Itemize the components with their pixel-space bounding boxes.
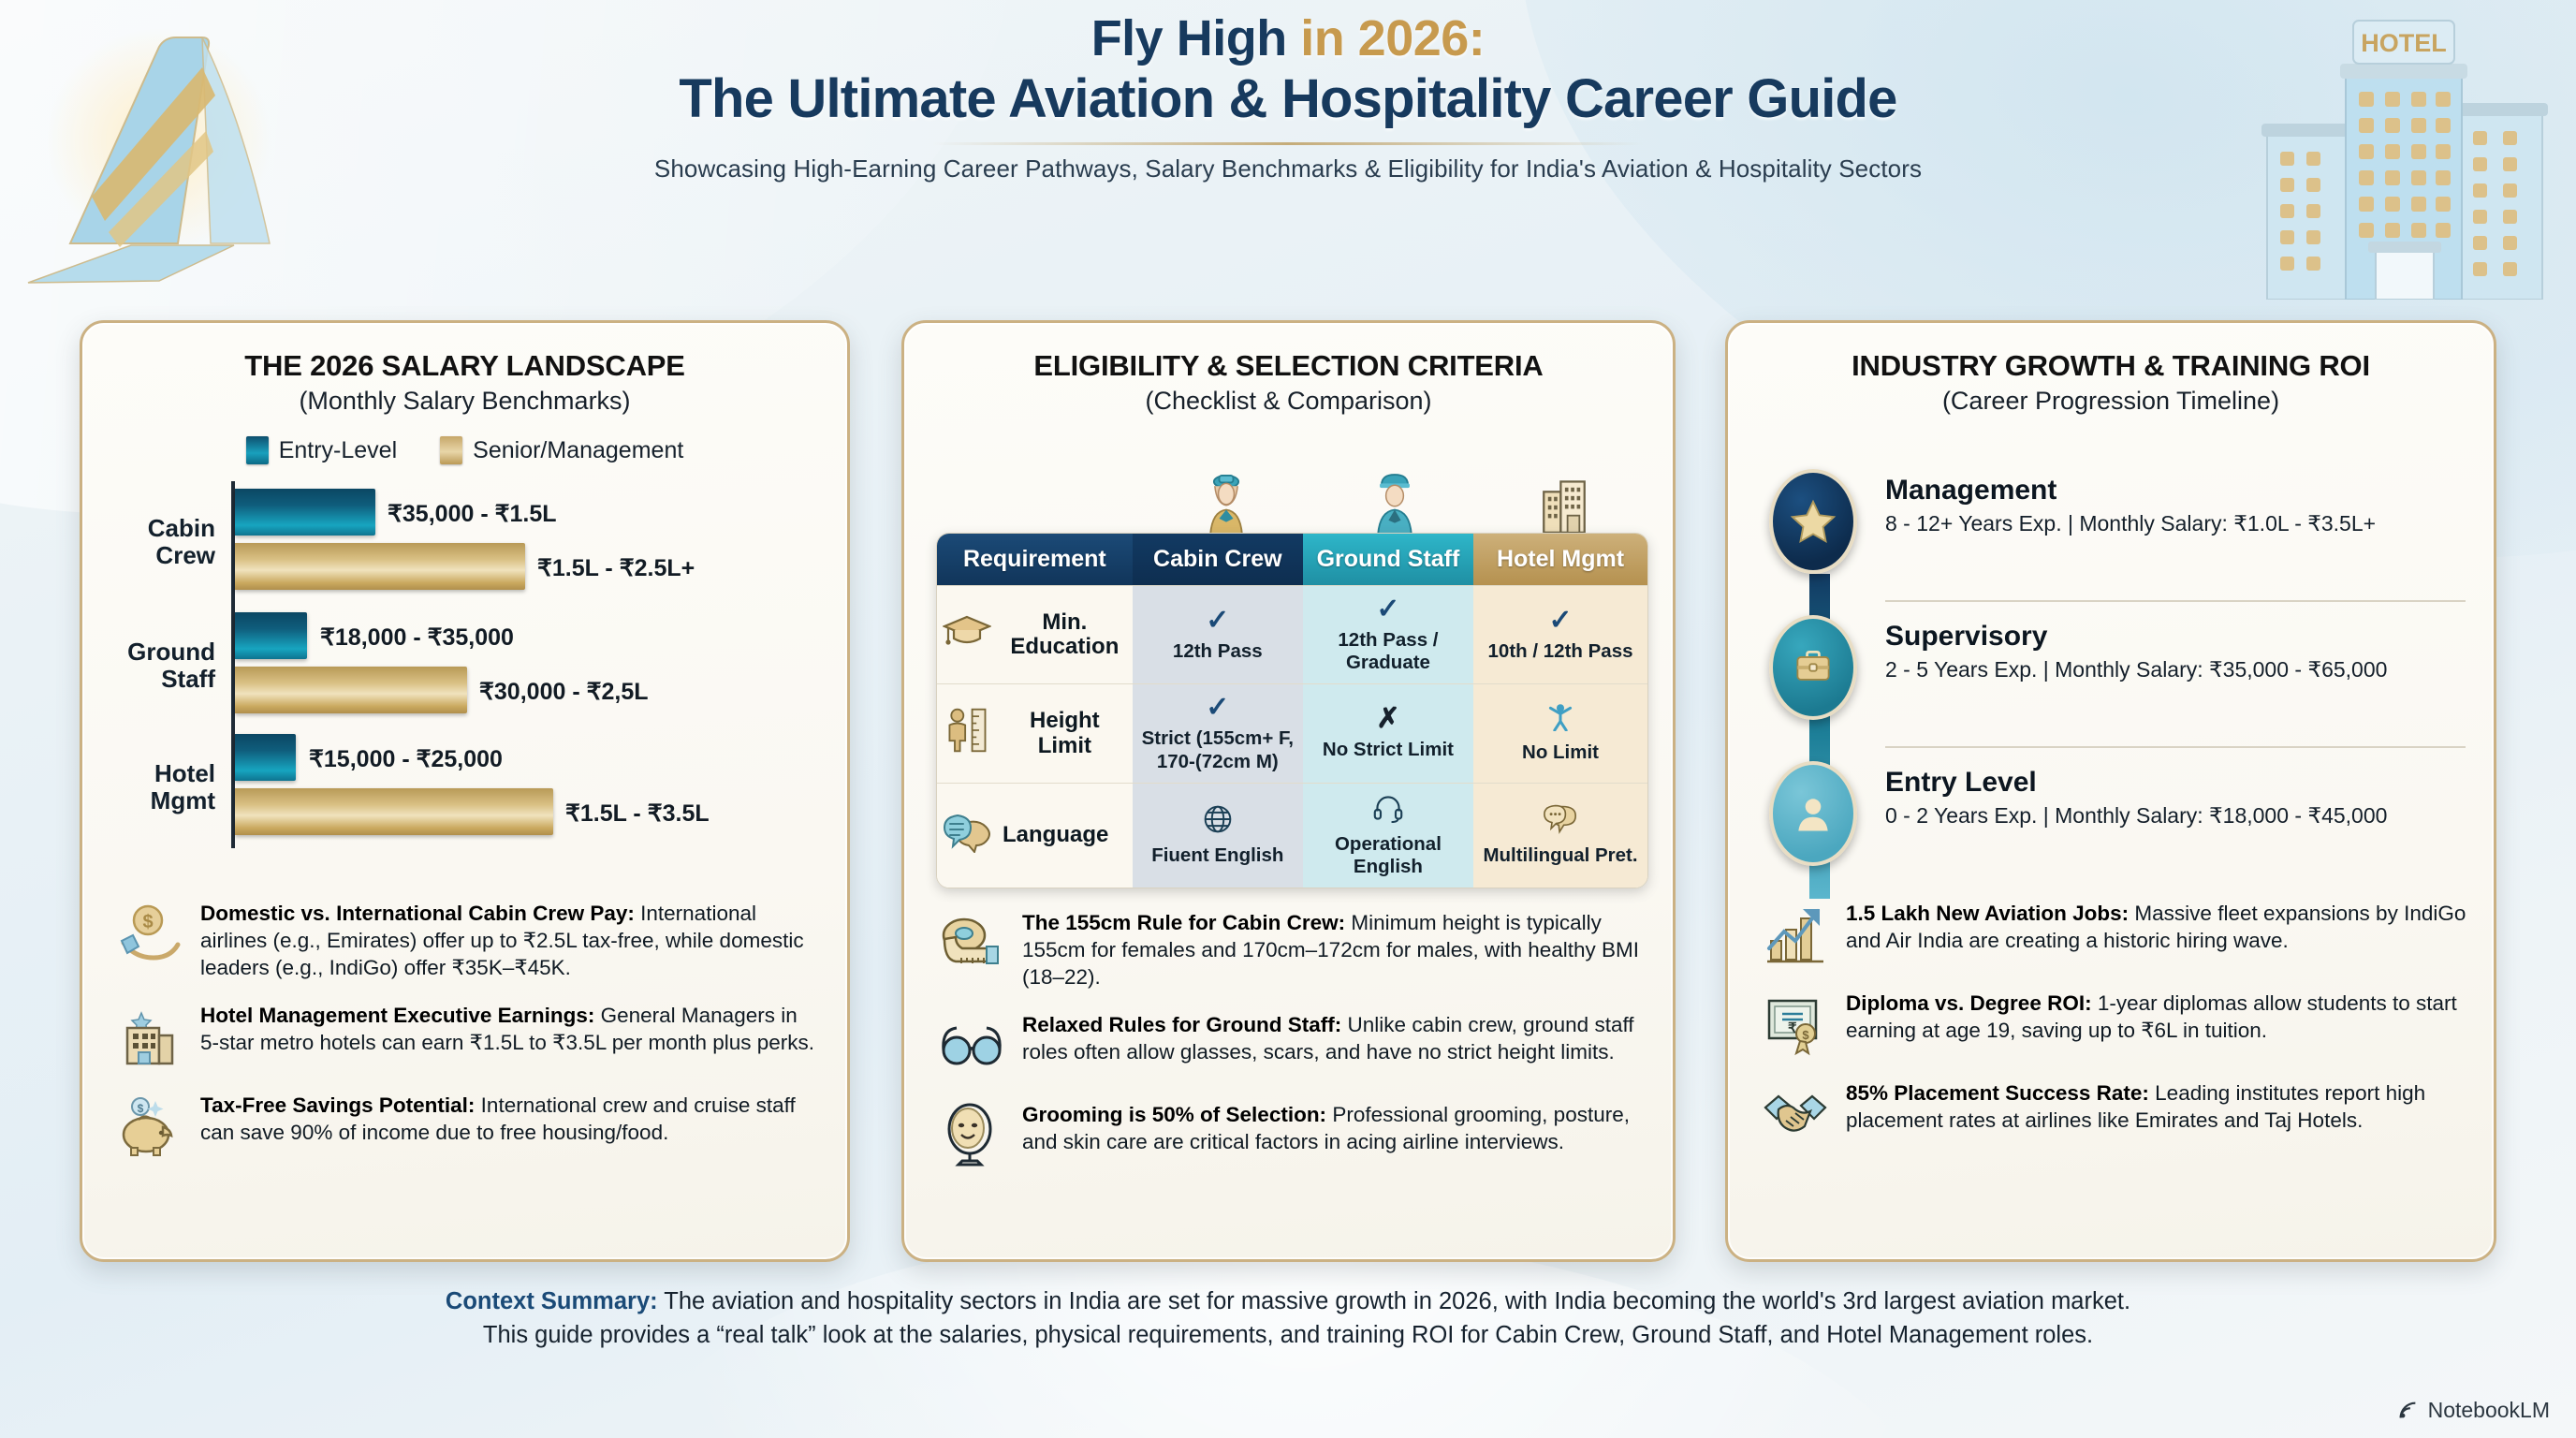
legend-swatch-senior xyxy=(440,436,462,464)
bullet-text: The 155cm Rule for Cabin Crew: Minimum h… xyxy=(1022,907,1647,990)
bullet-item: Hotel Management Executive Earnings: Gen… xyxy=(114,1000,821,1071)
table-row-label: Language xyxy=(1003,823,1108,847)
bar-value-entry-ground-staff: ₹18,000 - ₹35,000 xyxy=(320,624,514,652)
bullet-item: 1.5 Lakh New Aviation Jobs: Massive flee… xyxy=(1760,898,2467,969)
bullet-text: Hotel Management Executive Earnings: Gen… xyxy=(200,1000,821,1057)
bar-senior-ground-staff xyxy=(235,667,467,713)
bullet-item: 85% Placement Success Rate: Leading inst… xyxy=(1760,1078,2467,1149)
bullet-item: $ Tax-Free Savings Potential: Internatio… xyxy=(114,1090,821,1161)
context-summary-line1: Context Summary: The aviation and hospit… xyxy=(94,1284,2482,1318)
context-summary-line2: This guide provides a “real talk” look a… xyxy=(94,1318,2482,1352)
cell-text: 12th Pass xyxy=(1173,640,1263,662)
bullet-text: Grooming is 50% of Selection: Profession… xyxy=(1022,1099,1647,1156)
bar-value-entry-cabin-crew: ₹35,000 - ₹1.5L xyxy=(388,500,557,528)
bar-entry-hotel-mgmt xyxy=(235,734,296,781)
person-badge-icon xyxy=(1769,761,1857,866)
salary-bar-chart: Cabin Crew ₹35,000 - ₹1.5L ₹1.5L - ₹2.5L… xyxy=(114,481,815,848)
chat-bubble-icon xyxy=(1479,804,1642,840)
table-cell-hotel-mgmt: Multilingual Pret. xyxy=(1473,783,1647,888)
bar-value-senior-hotel-mgmt: ₹1.5L - ₹3.5L xyxy=(565,800,710,828)
money-in-hand-icon: $ xyxy=(114,898,185,969)
notebooklm-watermark: NotebookLM xyxy=(2397,1398,2550,1423)
bullet-bold: Tax-Free Savings Potential: xyxy=(200,1093,475,1117)
bar-entry-ground-staff xyxy=(235,612,307,659)
table-cell-requirement: Height Limit xyxy=(937,684,1133,783)
legend-label-entry: Entry-Level xyxy=(279,437,397,464)
table-header-ground-staff: Ground Staff xyxy=(1303,534,1473,586)
bullet-item: Relaxed Rules for Ground Staff: Unlike c… xyxy=(936,1009,1647,1080)
cross-icon: ✗ xyxy=(1309,705,1468,733)
hotel-building-avatar-icon xyxy=(1480,465,1648,535)
timeline-item-entry-level: Entry Level 0 - 2 Years Exp. | Monthly S… xyxy=(1762,761,2466,881)
briefcase-badge-icon xyxy=(1769,615,1857,720)
table-row: Language Fiuent English xyxy=(937,783,1647,888)
panel-salary-landscape: THE 2026 SALARY LANDSCAPE (Monthly Salar… xyxy=(80,320,850,1262)
panel3-title: INDUSTRY GROWTH & TRAINING ROI xyxy=(1728,349,2494,383)
bullet-bold: Domestic vs. International Cabin Crew Pa… xyxy=(200,902,635,925)
bullet-bold: 85% Placement Success Rate: xyxy=(1846,1081,2149,1105)
star-badge-icon xyxy=(1769,469,1857,574)
svg-text:$: $ xyxy=(138,1102,144,1115)
notebooklm-label: NotebookLM xyxy=(2428,1398,2550,1423)
cell-text: Fiuent English xyxy=(1151,844,1283,866)
table-header-hotel-mgmt: Hotel Mgmt xyxy=(1473,534,1647,586)
table-row: Height Limit ✓ Strict (155cm+ F, 170-(72… xyxy=(937,684,1647,783)
notebooklm-logo-icon xyxy=(2397,1400,2420,1422)
bullet-bold: Diploma vs. Degree ROI: xyxy=(1846,991,2092,1015)
page-header: Fly High in 2026: The Ultimate Aviation … xyxy=(0,11,2576,183)
bullet-item: Grooming is 50% of Selection: Profession… xyxy=(936,1099,1647,1170)
legend-entry-level: Entry-Level xyxy=(246,436,397,464)
timeline-separator xyxy=(1885,746,2466,748)
legend-label-senior: Senior/Management xyxy=(473,437,683,464)
bullet-text: Relaxed Rules for Ground Staff: Unlike c… xyxy=(1022,1009,1647,1066)
panel1-subtitle: (Monthly Salary Benchmarks) xyxy=(82,387,847,416)
cell-text: 12th Pass / Graduate xyxy=(1338,629,1438,673)
hotel-building-icon xyxy=(114,1000,185,1071)
table-cell-hotel-mgmt: No Limit xyxy=(1473,684,1647,783)
legend-swatch-entry xyxy=(246,436,269,464)
page-subtitle: Showcasing High-Earning Career Pathways,… xyxy=(0,154,2576,183)
table-row: Min. Education ✓ 12th Pass ✓ 12th Pass /… xyxy=(937,586,1647,684)
table-header-cabin-crew: Cabin Crew xyxy=(1133,534,1303,586)
panel-eligibility-criteria: ELIGIBILITY & SELECTION CRITERIA (Checkl… xyxy=(901,320,1676,1262)
piggy-bank-icon: $ xyxy=(114,1090,185,1161)
table-cell-cabin-crew: Fiuent English xyxy=(1133,783,1303,888)
growth-chart-icon xyxy=(1760,898,1831,969)
check-icon: ✓ xyxy=(1309,595,1468,624)
panel2-title: ELIGIBILITY & SELECTION CRITERIA xyxy=(904,349,1673,383)
cell-text: 10th / 12th Pass xyxy=(1488,640,1633,662)
glasses-icon xyxy=(936,1009,1007,1080)
bar-entry-cabin-crew xyxy=(235,489,375,536)
title-in-2026: in 2026: xyxy=(1287,10,1486,66)
bar-value-senior-cabin-crew: ₹1.5L - ₹2.5L+ xyxy=(537,554,695,582)
page-title-line2: The Ultimate Aviation & Hospitality Care… xyxy=(0,69,2576,129)
timeline-desc: 2 - 5 Years Exp. | Monthly Salary: ₹35,0… xyxy=(1885,656,2466,683)
chart-group-hotel-mgmt: Hotel Mgmt ₹15,000 - ₹25,000 ₹1.5L - ₹3.… xyxy=(114,732,815,843)
page-title-line1: Fly High in 2026: xyxy=(0,11,2576,66)
globe-icon xyxy=(1138,804,1297,840)
panel2-subtitle: (Checklist & Comparison) xyxy=(904,387,1673,416)
timeline-title: Management xyxy=(1885,475,2466,506)
timeline-item-supervisory: Supervisory 2 - 5 Years Exp. | Monthly S… xyxy=(1762,615,2466,735)
bullet-bold: Relaxed Rules for Ground Staff: xyxy=(1022,1013,1341,1036)
timeline-title: Entry Level xyxy=(1885,767,2466,798)
panel2-bullets: The 155cm Rule for Cabin Crew: Minimum h… xyxy=(936,907,1647,1189)
title-fly-high: Fly High xyxy=(1091,10,1287,66)
bar-senior-hotel-mgmt xyxy=(235,788,553,835)
chart-category-label: Hotel Mgmt xyxy=(114,760,225,814)
panel1-title: THE 2026 SALARY LANDSCAPE xyxy=(82,349,847,383)
table-cell-ground-staff: ✗ No Strict Limit xyxy=(1303,684,1473,783)
bullet-text: Tax-Free Savings Potential: Internationa… xyxy=(200,1090,821,1147)
bullet-text: Diploma vs. Degree ROI: 1-year diplomas … xyxy=(1846,988,2467,1045)
measuring-tape-icon xyxy=(936,907,1007,978)
table-persona-icons xyxy=(936,465,1648,535)
bullet-text: 1.5 Lakh New Aviation Jobs: Massive flee… xyxy=(1846,898,2467,955)
title-divider xyxy=(932,142,1644,145)
bullet-bold: Grooming is 50% of Selection: xyxy=(1022,1103,1326,1126)
eligibility-table: Requirement Cabin Crew Ground Staff Hote… xyxy=(936,533,1648,888)
speech-bubbles-icon xyxy=(943,812,991,858)
check-icon: ✓ xyxy=(1138,694,1297,722)
panel1-bullets: $ Domestic vs. International Cabin Crew … xyxy=(114,898,821,1180)
panel3-bullets: 1.5 Lakh New Aviation Jobs: Massive flee… xyxy=(1760,898,2467,1167)
svg-text:$: $ xyxy=(142,912,153,932)
cell-text: No Strict Limit xyxy=(1323,739,1454,760)
graduation-cap-icon xyxy=(943,611,991,658)
cell-text: Strict (155cm+ F, 170-(72cm M) xyxy=(1142,727,1294,771)
bar-value-senior-ground-staff: ₹30,000 - ₹2,5L xyxy=(479,678,649,706)
table-cell-hotel-mgmt: ✓ 10th / 12th Pass xyxy=(1473,586,1647,684)
timeline-desc: 0 - 2 Years Exp. | Monthly Salary: ₹18,0… xyxy=(1885,802,2466,829)
bullet-item: ₹ $ Diploma vs. Degree ROI: 1-year diplo… xyxy=(1760,988,2467,1059)
career-progression-timeline: Management 8 - 12+ Years Exp. | Monthly … xyxy=(1762,469,2466,881)
table-row-label: Height Limit xyxy=(1003,709,1127,758)
bar-senior-cabin-crew xyxy=(235,543,525,590)
table-header-requirement: Requirement xyxy=(937,534,1133,586)
headset-icon xyxy=(1309,793,1468,829)
table-cell-ground-staff: ✓ 12th Pass / Graduate xyxy=(1303,586,1473,684)
bullet-bold: 1.5 Lakh New Aviation Jobs: xyxy=(1846,902,2129,925)
timeline-separator xyxy=(1885,600,2466,602)
table-cell-ground-staff: Operational English xyxy=(1303,783,1473,888)
bullet-item: The 155cm Rule for Cabin Crew: Minimum h… xyxy=(936,907,1647,990)
timeline-desc: 8 - 12+ Years Exp. | Monthly Salary: ₹1.… xyxy=(1885,510,2466,537)
context-summary: Context Summary: The aviation and hospit… xyxy=(94,1284,2482,1352)
bullet-text: 85% Placement Success Rate: Leading inst… xyxy=(1846,1078,2467,1135)
check-icon: ✓ xyxy=(1479,607,1642,635)
table-header-row: Requirement Cabin Crew Ground Staff Hote… xyxy=(937,534,1647,586)
person-arms-up-icon xyxy=(1479,703,1642,737)
chart-category-label: Ground Staff xyxy=(114,638,225,693)
legend-senior: Senior/Management xyxy=(440,436,683,464)
timeline-title: Supervisory xyxy=(1885,621,2466,652)
bullet-bold: The 155cm Rule for Cabin Crew: xyxy=(1022,911,1345,934)
height-ruler-icon xyxy=(943,706,991,760)
table-cell-requirement: Language xyxy=(937,783,1133,888)
context-summary-text1: The aviation and hospitality sectors in … xyxy=(658,1288,2130,1314)
bullet-item: $ Domestic vs. International Cabin Crew … xyxy=(114,898,821,981)
chart-legend: Entry-Level Senior/Management xyxy=(82,436,847,464)
cell-text: Multilingual Pret. xyxy=(1483,844,1637,866)
bar-value-entry-hotel-mgmt: ₹15,000 - ₹25,000 xyxy=(309,745,503,773)
svg-text:$: $ xyxy=(1802,1028,1809,1042)
bullet-bold: Hotel Management Executive Earnings: xyxy=(200,1004,594,1027)
chart-group-cabin-crew: Cabin Crew ₹35,000 - ₹1.5L ₹1.5L - ₹2.5L… xyxy=(114,487,815,597)
table-cell-requirement: Min. Education xyxy=(937,586,1133,684)
chart-group-ground-staff: Ground Staff ₹18,000 - ₹35,000 ₹30,000 -… xyxy=(114,610,815,721)
mirror-grooming-icon xyxy=(936,1099,1007,1170)
check-icon: ✓ xyxy=(1138,607,1297,635)
timeline-item-management: Management 8 - 12+ Years Exp. | Monthly … xyxy=(1762,469,2466,589)
cabin-crew-avatar-icon xyxy=(1142,465,1310,535)
chart-category-label: Cabin Crew xyxy=(114,515,225,569)
panel-industry-growth-roi: INDUSTRY GROWTH & TRAINING ROI (Career P… xyxy=(1725,320,2496,1262)
table-row-label: Min. Education xyxy=(1003,610,1127,660)
context-summary-label: Context Summary: xyxy=(446,1288,658,1314)
bullet-text: Domestic vs. International Cabin Crew Pa… xyxy=(200,898,821,981)
table-cell-cabin-crew: ✓ 12th Pass xyxy=(1133,586,1303,684)
handshake-icon xyxy=(1760,1078,1831,1149)
cell-text: No Limit xyxy=(1522,741,1599,763)
table-cell-cabin-crew: ✓ Strict (155cm+ F, 170-(72cm M) xyxy=(1133,684,1303,783)
certificate-icon: ₹ $ xyxy=(1760,988,1831,1059)
ground-staff-avatar-icon xyxy=(1310,465,1479,535)
cell-text: Operational English xyxy=(1335,833,1442,877)
panel3-subtitle: (Career Progression Timeline) xyxy=(1728,387,2494,416)
